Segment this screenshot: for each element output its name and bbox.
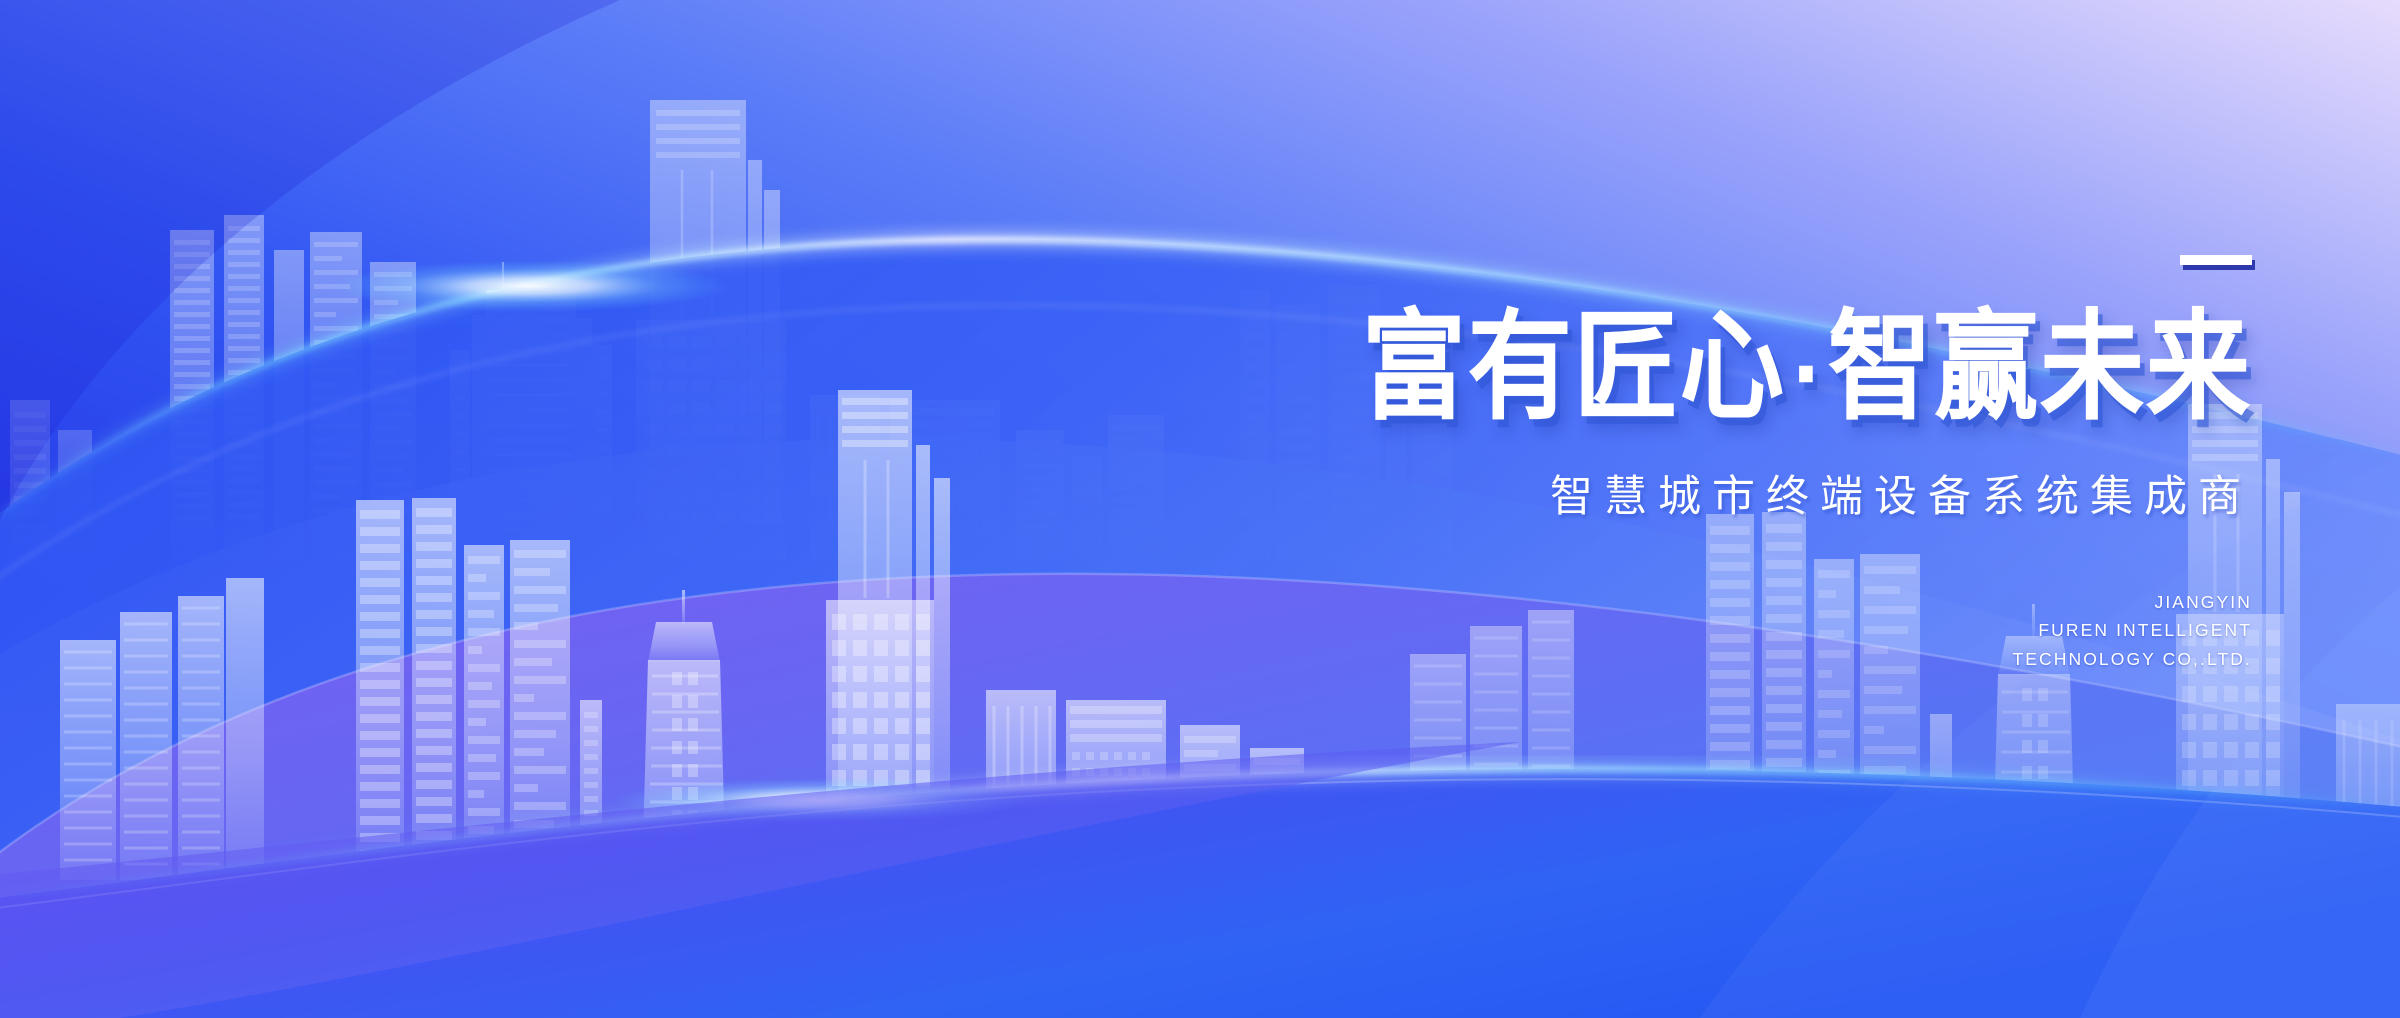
arc-hotspot-upper <box>330 260 730 312</box>
banner-canvas: 富有匠心·智赢未来 智慧城市终端设备系统集成商 JIANGYIN FUREN I… <box>0 0 2400 1018</box>
company-line-2: FUREN INTELLIGENT <box>1072 616 2252 644</box>
decorative-dash-icon <box>2180 255 2252 265</box>
company-line-3: TECHNOLOGY CO,.LTD. <box>1072 645 2252 673</box>
headline-separator-dot: · <box>1786 326 1828 424</box>
headline-part-two: 智赢未来 <box>1828 297 2252 436</box>
subtitle: 智慧城市终端设备系统集成商 <box>1072 462 2252 524</box>
company-line-1: JIANGYIN <box>1072 588 2252 616</box>
headline-group: 富有匠心·智赢未来 智慧城市终端设备系统集成商 JIANGYIN FUREN I… <box>1072 255 2252 673</box>
page-title: 富有匠心·智赢未来 <box>1072 307 2252 428</box>
headline-part-one: 富有匠心 <box>1362 297 1786 436</box>
company-name-en: JIANGYIN FUREN INTELLIGENT TECHNOLOGY CO… <box>1072 588 2252 673</box>
